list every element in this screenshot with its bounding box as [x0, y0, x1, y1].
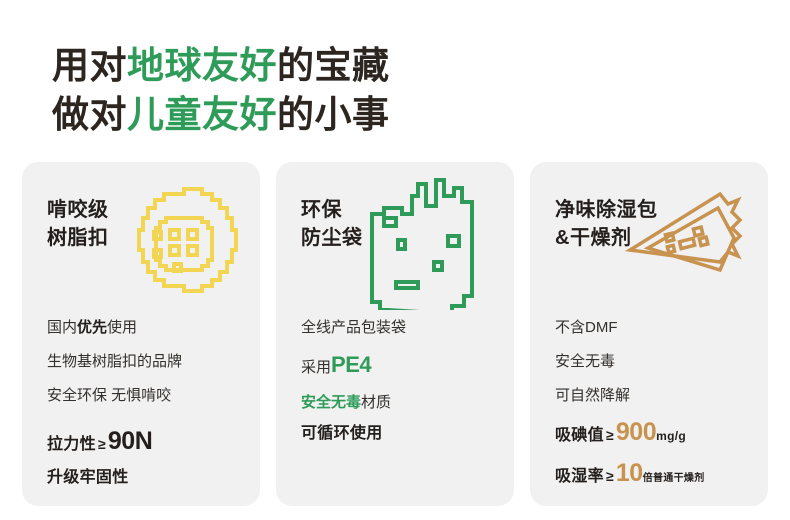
card-heading-line-2: 树脂扣 — [47, 224, 109, 252]
stat-unit: mg/g — [656, 429, 686, 443]
card-body-desiccant: 不含DMF 安全无毒 可自然降解 — [555, 320, 756, 403]
headline2-seg-dark-2: 的小事 — [277, 94, 390, 135]
stat-value: 900 — [616, 418, 656, 446]
body-text: 采用 — [301, 359, 331, 376]
headline-seg-dark-2: 的宝藏 — [277, 45, 390, 86]
headline-line-2: 做对儿童友好的小事 — [52, 91, 390, 140]
stat-value: 90N — [108, 427, 152, 455]
stat-label: 吸碘值 — [555, 427, 604, 444]
stat-unit: 倍普通干燥剂 — [643, 473, 705, 484]
body-line: 安全环保 无惧啃咬 — [47, 388, 248, 403]
body-line: 安全无毒材质 — [301, 395, 502, 410]
page-headline: 用对地球友好的宝藏 做对儿童友好的小事 — [52, 42, 390, 140]
card-heading-resin-buckle: 啃咬级 树脂扣 — [47, 196, 109, 253]
body-line: 全线产品包装袋 — [301, 320, 502, 335]
feature-card-desiccant[interactable]: 净味除湿包 &干燥剂 不含DMF 安全无毒 可自然降解 吸碘值≥900mg/g … — [530, 162, 768, 506]
body-line: 国内优先使用 — [47, 320, 248, 335]
feature-card-dust-bag[interactable]: 环保 防尘袋 全线产品包装袋 采用PE4 安全无毒材质 可循环使用 — [276, 162, 514, 506]
card-body-resin-buckle: 国内优先使用 生物基树脂扣的品牌 安全环保 无惧啃咬 — [47, 320, 248, 403]
body-text: 材质 — [361, 394, 391, 411]
stat-line: 吸湿率≥10倍普通干燥剂 — [555, 461, 758, 486]
feature-card-resin-buckle[interactable]: 啃咬级 树脂扣 国内优先使用 生物基树脂扣的品牌 安全环保 无惧啃咬 拉力性≥9… — [22, 162, 260, 506]
body-line: 生物基树脂扣的品牌 — [47, 354, 248, 369]
stat-line: 可循环使用 — [301, 426, 504, 442]
stat-comparator: ≥ — [98, 436, 106, 452]
body-line: 采用PE4 — [301, 354, 502, 376]
stat-value: 10 — [616, 459, 643, 487]
card-heading-dust-bag: 环保 防尘袋 — [301, 196, 363, 253]
headline-line-1: 用对地球友好的宝藏 — [52, 42, 390, 91]
stat-label: 吸湿率 — [555, 468, 604, 485]
body-text-highlight: 安全无毒 — [301, 394, 361, 411]
stat-line: 升级牢固性 — [47, 470, 250, 486]
body-text: 使用 — [107, 319, 137, 336]
body-line: 可自然降解 — [555, 388, 756, 403]
card-stats-resin-buckle: 拉力性≥90N 升级牢固性 — [47, 429, 250, 486]
body-text: 国内 — [47, 319, 77, 336]
headline-seg-dark: 用对 — [52, 45, 127, 86]
body-text-strong: 优先 — [77, 319, 107, 336]
body-line: 不含DMF — [555, 320, 756, 335]
card-stats-dust-bag: 可循环使用 — [301, 426, 504, 442]
card-heading-line-2: 防尘袋 — [301, 224, 363, 252]
card-body-dust-bag: 全线产品包装袋 采用PE4 安全无毒材质 — [301, 320, 502, 410]
headline2-seg-green: 儿童友好 — [127, 94, 277, 135]
headline2-seg-dark: 做对 — [52, 94, 127, 135]
stat-line: 吸碘值≥900mg/g — [555, 420, 758, 445]
card-heading-line-1: 啃咬级 — [47, 196, 109, 224]
stat-label: 拉力性 — [47, 436, 96, 453]
stat-comparator: ≥ — [606, 468, 614, 484]
stat-line: 拉力性≥90N — [47, 429, 250, 454]
headline-seg-green: 地球友好 — [127, 45, 277, 86]
card-heading-line-1: 净味除湿包 — [555, 196, 658, 224]
pixel-buckle-icon — [130, 184, 238, 313]
pixel-shopping-bag-icon — [354, 178, 474, 315]
body-text-highlight: PE4 — [331, 352, 371, 377]
card-heading-line-1: 环保 — [301, 196, 363, 224]
body-line: 安全无毒 — [555, 354, 756, 369]
feature-card-list: 啃咬级 树脂扣 国内优先使用 生物基树脂扣的品牌 安全环保 无惧啃咬 拉力性≥9… — [22, 162, 768, 506]
card-heading-line-2: &干燥剂 — [555, 224, 658, 252]
card-stats-desiccant: 吸碘值≥900mg/g 吸湿率≥10倍普通干燥剂 — [555, 420, 758, 486]
stat-comparator: ≥ — [606, 427, 614, 443]
card-heading-desiccant: 净味除湿包 &干燥剂 — [555, 196, 658, 253]
